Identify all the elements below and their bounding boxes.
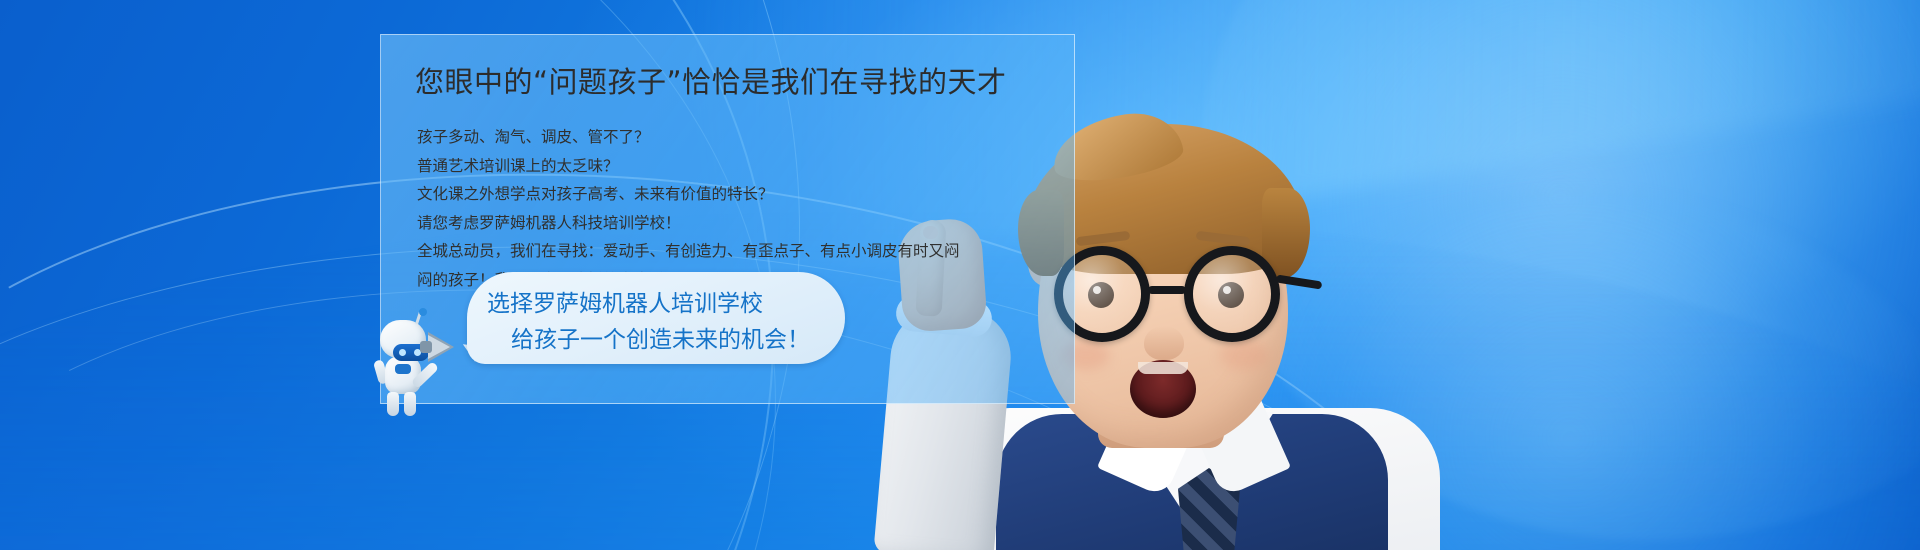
boy-teeth: [1138, 362, 1188, 374]
promo-banner: 您眼中的“问题孩子”恰恰是我们在寻找的天才 孩子多动、淘气、调皮、管不了？ 普通…: [0, 0, 1920, 550]
robot-eye-left: [399, 349, 406, 356]
body-line: 请您考虑罗萨姆机器人科技培训学校！: [417, 209, 1057, 238]
megaphone-icon: [420, 332, 456, 362]
robot-chest-panel: [395, 364, 411, 374]
body-line: 普通艺术培训课上的太乏味？: [417, 152, 1057, 181]
speech-bubble-line-1: 选择罗萨姆机器人培训学校: [487, 284, 763, 318]
body-line: 全城总动员，我们在寻找：爱动手、有创造力、有歪点子、有点小调皮有时又闷: [417, 237, 1057, 266]
robot-body: [385, 356, 421, 394]
body-line: 文化课之外想学点对孩子高考、未来有价值的特长？: [417, 180, 1057, 209]
body-copy: 孩子多动、淘气、调皮、管不了？ 普通艺术培训课上的太乏味？ 文化课之外想学点对孩…: [417, 123, 1057, 294]
megaphone-grip: [420, 341, 432, 353]
boy-glasses-bridge: [1148, 286, 1186, 294]
boy-glasses-lens-right: [1184, 246, 1280, 342]
body-line: 孩子多动、淘气、调皮、管不了？: [417, 123, 1057, 152]
robot-leg-left: [387, 392, 399, 416]
robot-mascot-icon: [372, 308, 462, 420]
boy-nose: [1144, 326, 1184, 360]
robot-antenna-tip: [419, 308, 427, 316]
robot-leg-right: [404, 392, 416, 416]
speech-bubble-line-2: 给孩子一个创造未来的机会！: [511, 320, 810, 354]
speech-bubble: 选择罗萨姆机器人培训学校 给孩子一个创造未来的机会！: [467, 272, 845, 364]
page-title: 您眼中的“问题孩子”恰恰是我们在寻找的天才: [415, 59, 1007, 101]
boy-cheek-right: [1220, 340, 1268, 370]
